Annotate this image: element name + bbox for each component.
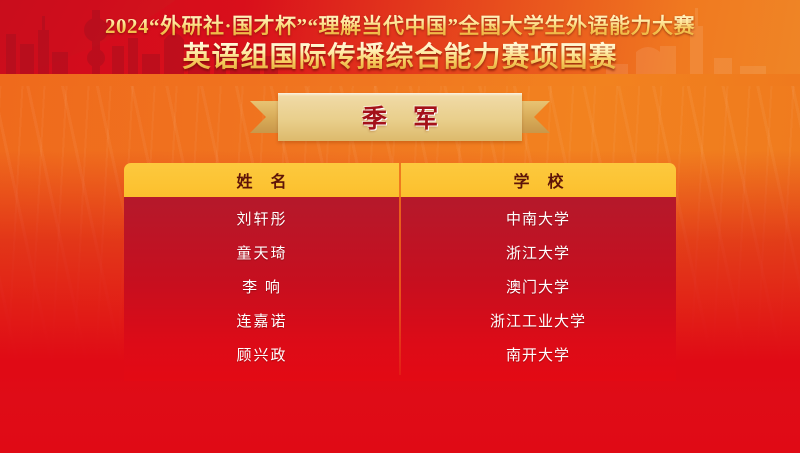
ribbon-body: 季 军 (278, 93, 522, 141)
competition-title-line1: 2024“外研社·国才杯”“理解当代中国”全国大学生外语能力大赛 (0, 12, 800, 40)
cell-school: 浙江工业大学 (400, 303, 676, 337)
table-row: 顾兴政 南开大学 (124, 337, 676, 371)
cell-name: 童天琦 (124, 235, 400, 269)
cell-name: 李 响 (124, 269, 400, 303)
background-bottom-red (0, 375, 800, 453)
poster-titles: 2024“外研社·国才杯”“理解当代中国”全国大学生外语能力大赛 英语组国际传播… (0, 12, 800, 75)
column-header-school: 学 校 (399, 163, 676, 197)
cell-school: 浙江大学 (400, 235, 676, 269)
table-body: 刘轩彤 中南大学 童天琦 浙江大学 李 响 澳门大学 连嘉诺 浙江工业大学 顾兴… (124, 197, 676, 381)
poster-canvas: 2024“外研社·国才杯”“理解当代中国”全国大学生外语能力大赛 英语组国际传播… (0, 0, 800, 453)
table-header-row: 姓 名 学 校 (124, 163, 676, 197)
competition-title-line2: 英语组国际传播综合能力赛项国赛 (0, 41, 800, 75)
table-row: 连嘉诺 浙江工业大学 (124, 303, 676, 337)
cell-name: 刘轩彤 (124, 201, 400, 235)
column-header-name: 姓 名 (124, 163, 399, 197)
table-row: 李 响 澳门大学 (124, 269, 676, 303)
award-ribbon: 季 军 (250, 93, 550, 141)
cell-school: 中南大学 (400, 201, 676, 235)
header-band-edge (0, 74, 800, 86)
cell-school: 澳门大学 (400, 269, 676, 303)
cell-school: 南开大学 (400, 337, 676, 371)
cell-name: 连嘉诺 (124, 303, 400, 337)
table-row: 刘轩彤 中南大学 (124, 201, 676, 235)
winners-table: 姓 名 学 校 刘轩彤 中南大学 童天琦 浙江大学 李 响 澳门大学 连嘉诺 浙… (124, 163, 676, 381)
table-row: 童天琦 浙江大学 (124, 235, 676, 269)
award-label: 季 军 (278, 93, 522, 141)
cell-name: 顾兴政 (124, 337, 400, 371)
